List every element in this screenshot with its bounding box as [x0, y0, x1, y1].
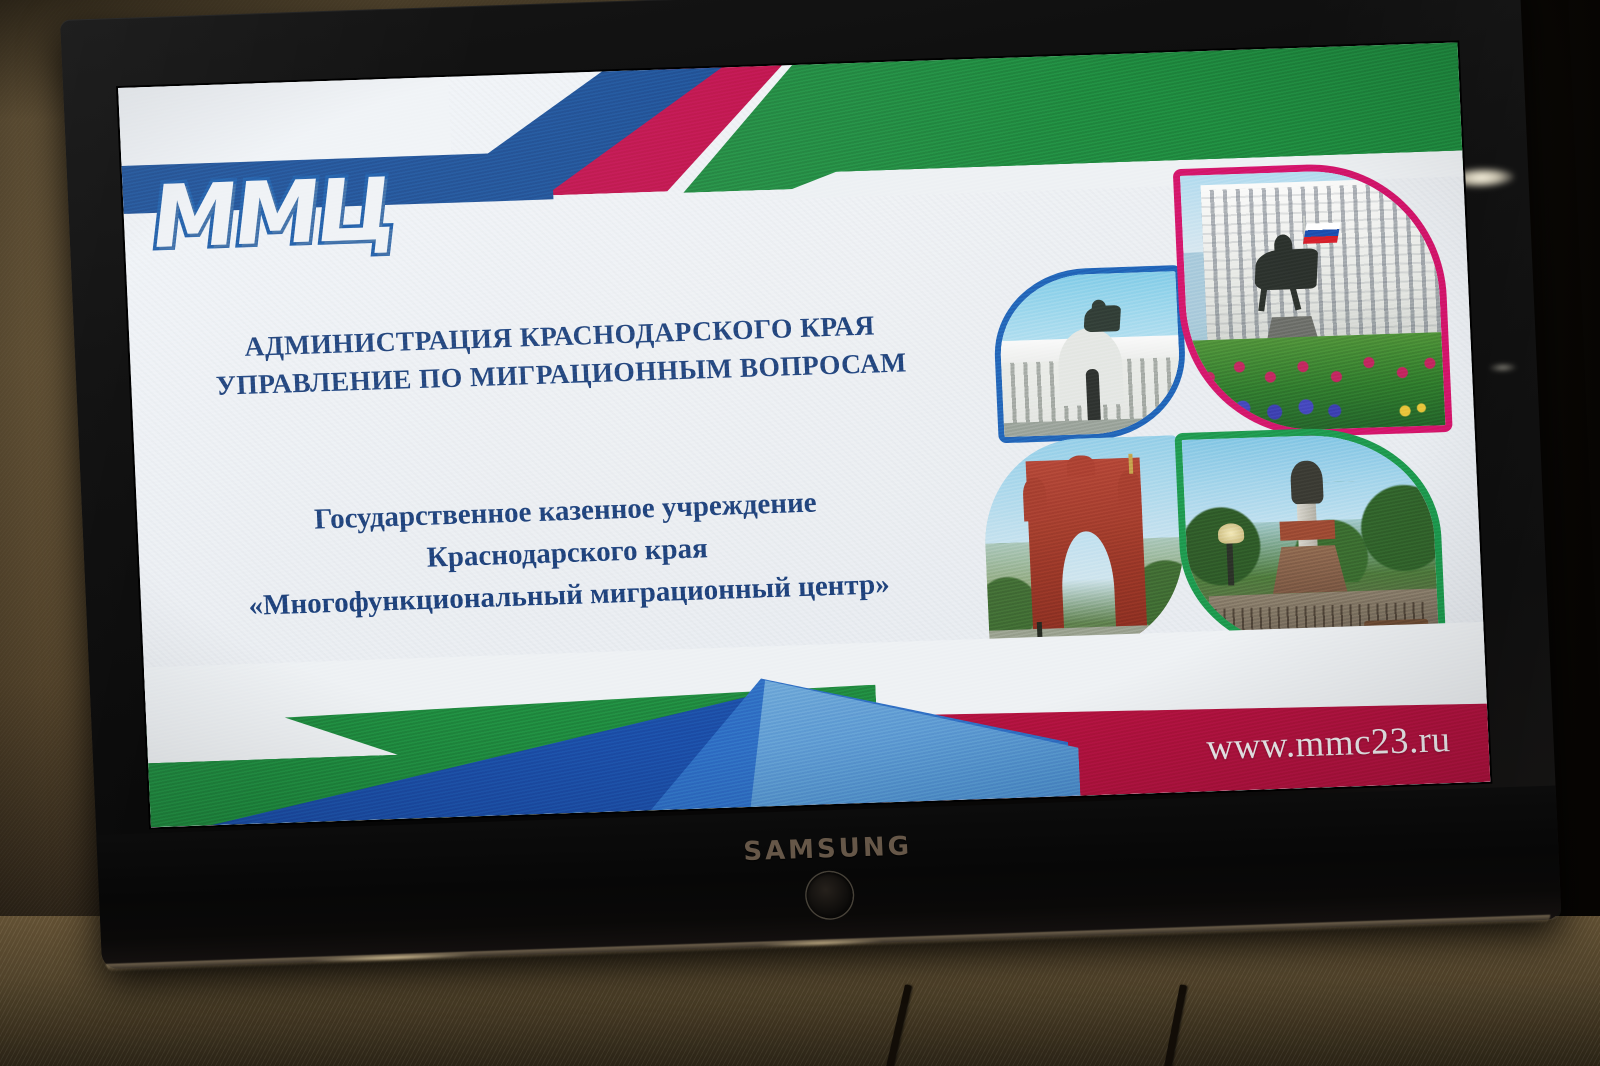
- monument-pedestal: [1271, 545, 1347, 594]
- colonnade-petal: [991, 265, 1189, 443]
- banner-white-block: [118, 73, 451, 168]
- arch-tower-left: [1022, 478, 1048, 521]
- samsung-brand-logo: SAMSUNG: [743, 831, 913, 867]
- catherine-monument-photo: [1182, 432, 1439, 652]
- catherine-statue-icon: [1290, 461, 1324, 504]
- television: ММЦ АДМИНИСТРАЦИЯ КРАСНОДАРСКОГО КРАЯ УП…: [60, 0, 1562, 969]
- arch-crown: [1067, 455, 1096, 477]
- monument-red-band: [1280, 520, 1335, 541]
- photo-collage: [962, 148, 1454, 663]
- slide-subtitle: Государственное казенное учреждение Крас…: [185, 478, 950, 629]
- building-windows: [1201, 183, 1446, 341]
- mmc-logo: ММЦ: [142, 165, 397, 281]
- administration-photo: [1180, 167, 1445, 433]
- standing-figure: [1085, 369, 1100, 421]
- statue-rider-icon: [1091, 299, 1106, 313]
- arch-spire: [1129, 454, 1134, 474]
- ir-sensor-icon: [806, 872, 854, 920]
- blue-flower-bed: [1195, 387, 1354, 434]
- colonnade-photo: [997, 271, 1182, 437]
- administration-petal: [1173, 160, 1453, 441]
- arch-tower-right: [1117, 470, 1143, 517]
- street-lamp-icon: [1218, 523, 1245, 544]
- russian-flag-icon: [1303, 222, 1340, 243]
- tv-screen: ММЦ АДМИНИСТРАЦИЯ КРАСНОДАРСКОГО КРАЯ УП…: [118, 42, 1490, 827]
- presentation-slide: ММЦ АДМИНИСТРАЦИЯ КРАСНОДАРСКОГО КРАЯ УП…: [118, 42, 1490, 827]
- mmc-logo-text: ММЦ: [147, 167, 399, 262]
- photo-scene: ММЦ АДМИНИСТРАЦИЯ КРАСНОДАРСКОГО КРАЯ УП…: [0, 0, 1600, 1066]
- yellow-flower-bed: [1388, 397, 1430, 424]
- triumphal-arch-petal: [981, 435, 1188, 654]
- triumphal-arch-photo: [981, 435, 1188, 654]
- website-url: www.mmc23.ru: [1205, 718, 1451, 769]
